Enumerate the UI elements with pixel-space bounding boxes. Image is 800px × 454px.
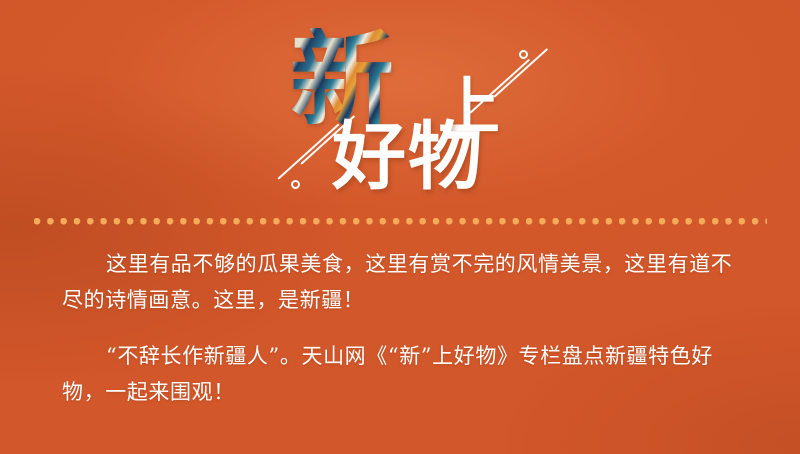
banner-header: 新 上 好物 xyxy=(0,0,800,200)
body-copy: 这里有品不够的瓜果美食，这里有赏不完的风情美景，这里有道不尽的诗情画意。这里，是… xyxy=(62,246,742,410)
circle-endpoint-icon-top-right xyxy=(519,50,528,59)
paragraph-1: 这里有品不够的瓜果美食，这里有赏不完的风情美景，这里有道不尽的诗情画意。这里，是… xyxy=(62,246,742,318)
paragraph-2: “不辞长作新疆人”。天山网《“新”上好物》专栏盘点新疆特色好物，一起来围观！ xyxy=(62,338,742,410)
title-glyph-haowu: 好物 xyxy=(332,120,484,194)
promo-banner: 新 上 好物 这里有品不够的瓜果美食，这里有赏不完的风情美景，这里有道不尽的诗情… xyxy=(0,0,800,454)
dotted-divider xyxy=(34,218,767,226)
title-lockup: 新 上 好物 xyxy=(290,28,520,193)
circle-endpoint-icon-bottom-left xyxy=(291,180,300,189)
